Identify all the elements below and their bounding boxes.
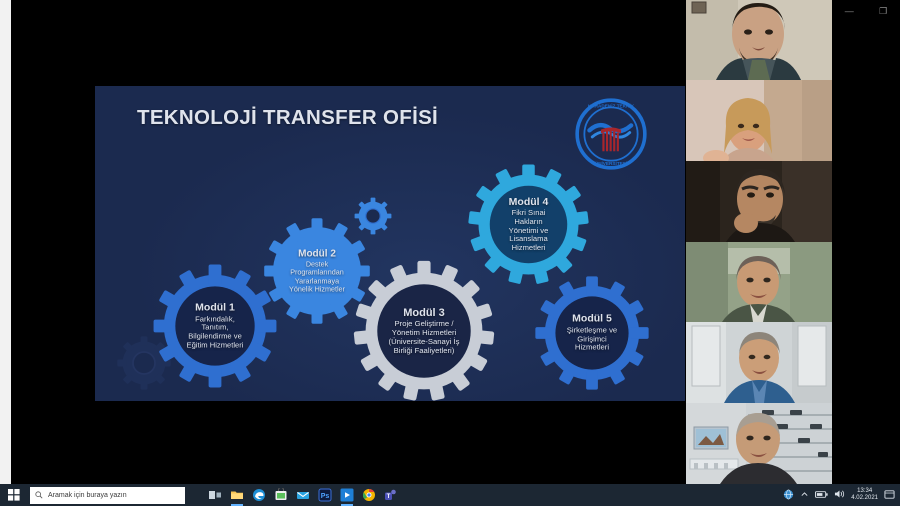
start-button[interactable] xyxy=(0,484,28,506)
clock[interactable]: 13:34 4.02.2021 xyxy=(851,488,878,502)
search-input[interactable]: Aramak için buraya yazın xyxy=(30,487,185,504)
left-edge-strip xyxy=(0,0,11,484)
task-view-icon[interactable] xyxy=(208,488,222,502)
restore-button[interactable]: ❐ xyxy=(879,6,887,17)
volume-icon[interactable] xyxy=(834,489,845,501)
clock-date: 4.02.2021 xyxy=(851,495,878,502)
search-placeholder-text: Aramak için buraya yazın xyxy=(48,492,127,499)
gear-modul-5: Modül 5 Şirketleşme ve Girişimci Hizmetl… xyxy=(533,274,651,392)
teams-icon[interactable]: T xyxy=(384,488,398,502)
svg-text:T: T xyxy=(387,494,391,500)
taskbar-app-icons: Ps T xyxy=(208,488,398,502)
google-chrome-icon[interactable] xyxy=(362,488,376,502)
svg-text:ÜNİVERSİTESİ: ÜNİVERSİTESİ xyxy=(595,160,627,166)
desktop-screen: — ❐ TEKNOLOJİ TRANSFER OFİSİ xyxy=(0,0,900,506)
page-title: TEKNOLOJİ TRANSFER OFİSİ xyxy=(137,106,438,130)
microsoft-store-icon[interactable] xyxy=(274,488,288,502)
video-tile-participant-4[interactable] xyxy=(686,242,832,322)
gear-modul-1: Modül 1 Farkındalık, Tanıtım, Bilgilendi… xyxy=(151,262,279,390)
battery-icon[interactable] xyxy=(815,490,828,501)
system-tray: 13:34 4.02.2021 xyxy=(783,488,900,502)
video-tile-participant-5[interactable] xyxy=(686,322,832,403)
video-participants-column xyxy=(686,0,832,484)
notifications-icon[interactable] xyxy=(884,489,895,502)
svg-text:KARADENİZ TEKNİK: KARADENİZ TEKNİK xyxy=(588,102,635,108)
show-hidden-icons-chevron[interactable] xyxy=(800,490,809,501)
video-tile-participant-2[interactable] xyxy=(686,80,832,161)
mail-icon[interactable] xyxy=(296,488,310,502)
network-globe-icon[interactable] xyxy=(783,489,794,502)
search-icon xyxy=(35,491,43,499)
windows-taskbar: Aramak için buraya yazın Ps xyxy=(0,484,900,506)
ktu-university-logo: KARADENİZ TEKNİK ÜNİVERSİTESİ xyxy=(575,98,647,170)
svg-text:Ps: Ps xyxy=(321,493,330,500)
windows-logo-icon xyxy=(8,489,20,501)
video-tile-participant-1[interactable] xyxy=(686,0,832,80)
gear-modul-3: Modül 3 Proje Geliştirme / Yönetim Hizme… xyxy=(351,258,497,401)
media-player-icon[interactable] xyxy=(340,488,354,502)
video-tile-participant-6[interactable] xyxy=(686,403,832,484)
presentation-slide: TEKNOLOJİ TRANSFER OFİSİ KARADENİZ xyxy=(95,86,685,401)
photoshop-icon[interactable]: Ps xyxy=(318,488,332,502)
decorative-small-gear-top xyxy=(353,196,393,236)
presentation-stage: TEKNOLOJİ TRANSFER OFİSİ KARADENİZ xyxy=(11,0,684,484)
file-explorer-icon[interactable] xyxy=(230,488,244,502)
window-controls: — ❐ xyxy=(832,0,900,22)
minimize-button[interactable]: — xyxy=(845,6,854,16)
video-tile-participant-3[interactable] xyxy=(686,161,832,242)
microsoft-edge-icon[interactable] xyxy=(252,488,266,502)
clock-time: 13:34 xyxy=(851,488,878,495)
